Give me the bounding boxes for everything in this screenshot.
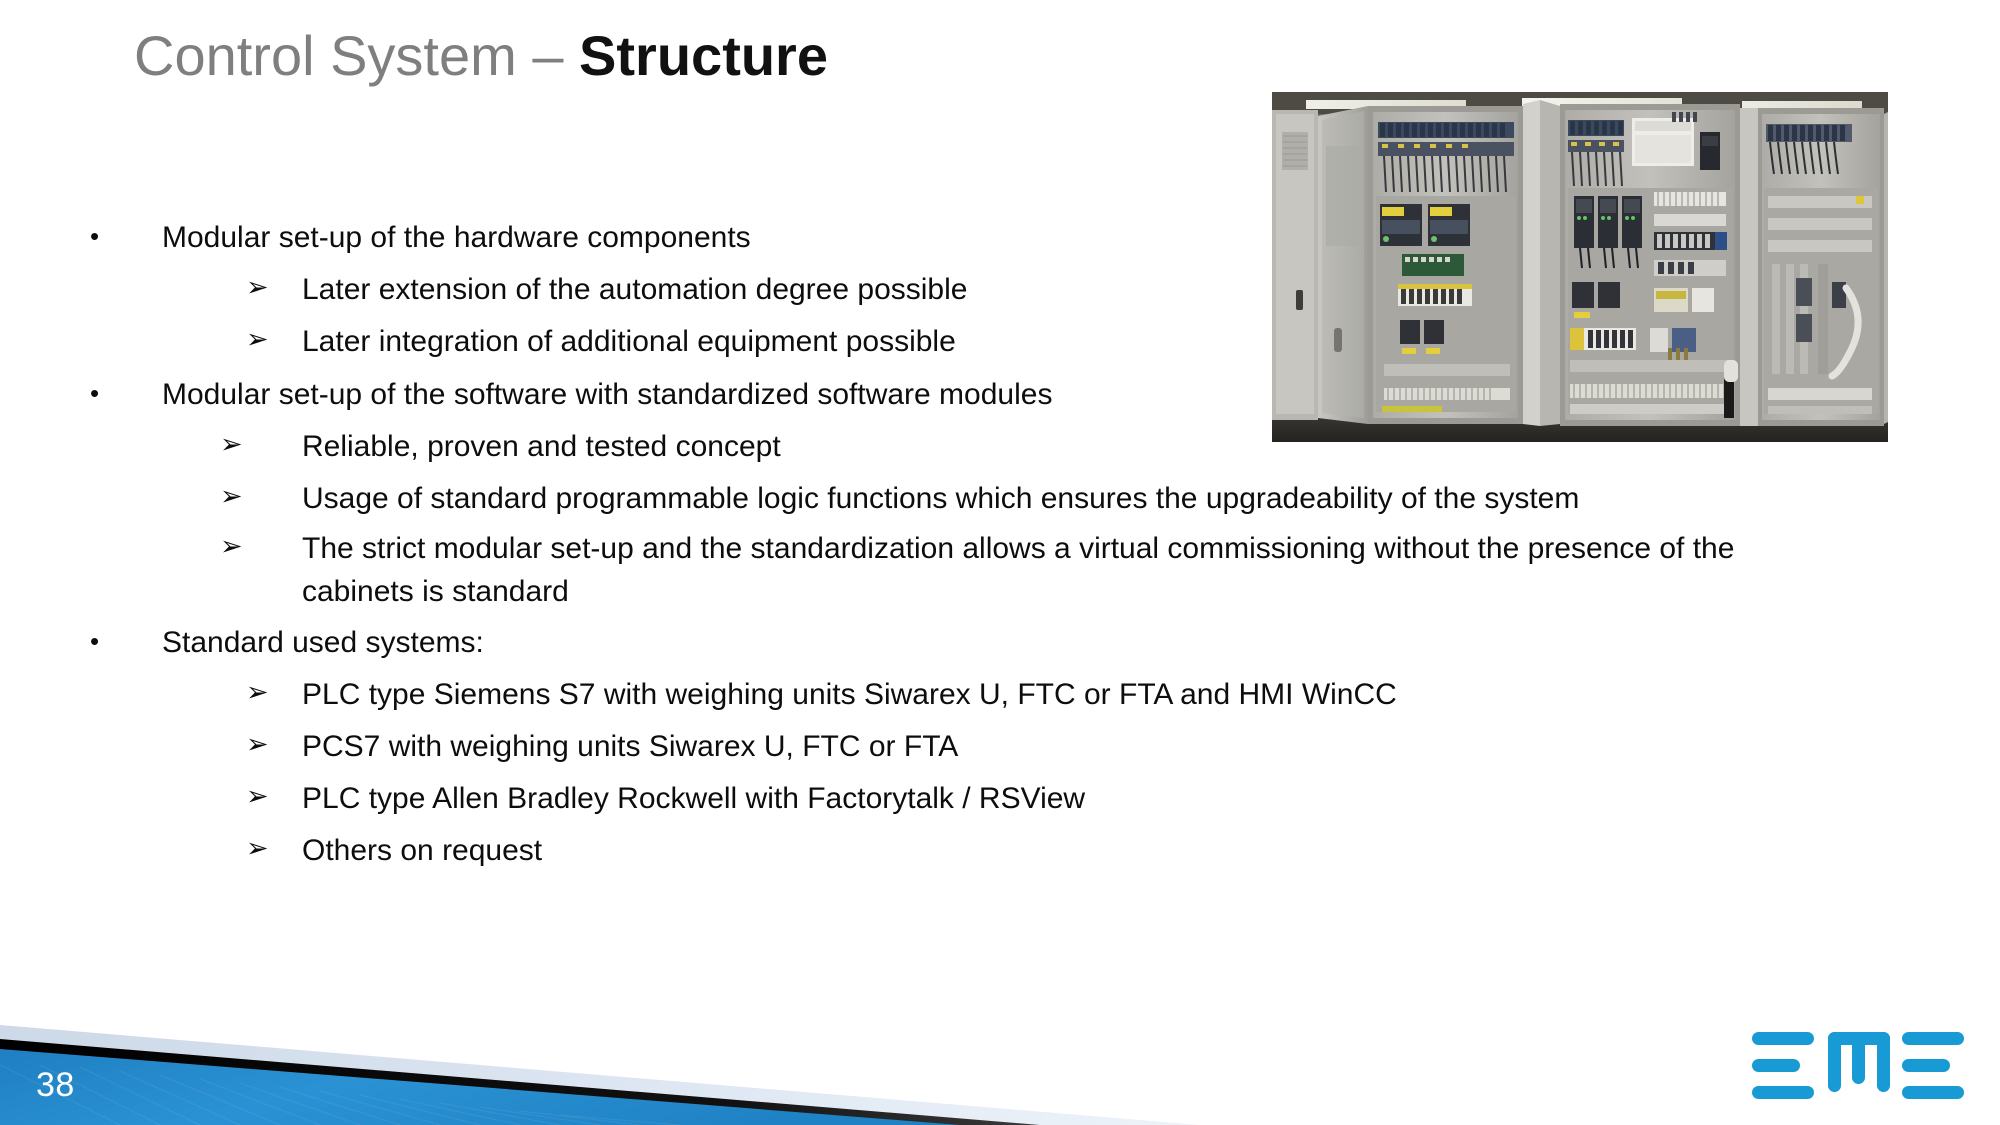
page-number: 38 (36, 1066, 75, 1105)
bullet-text: Usage of standard programmable logic fun… (302, 477, 1846, 520)
bullet-item-level2: ➢ Others on request (246, 829, 1846, 872)
bullet-dot-icon: • (86, 621, 162, 663)
bullet-arrow-icon: ➢ (246, 725, 302, 764)
slide-title: Control System – Structure (134, 26, 828, 86)
bullet-text: PCS7 with weighing units Siwarex U, FTC … (302, 725, 1846, 768)
title-primary-text: Control System – (134, 24, 579, 87)
bullet-text: The strict modular set-up and the standa… (302, 527, 1846, 613)
bullet-arrow-icon: ➢ (246, 268, 302, 307)
bullet-item-level2: ➢ PLC type Siemens S7 with weighing unit… (246, 673, 1846, 716)
bullet-arrow-icon: ➢ (246, 320, 302, 359)
bullet-text: Others on request (302, 829, 1846, 872)
eme-logo (1752, 1032, 1964, 1100)
bullet-item-level2: ➢ PCS7 with weighing units Siwarex U, FT… (246, 725, 1846, 768)
bullet-arrow-icon: ➢ (246, 829, 302, 868)
bullet-arrow-icon: ➢ (246, 673, 302, 712)
control-cabinets-photo (1272, 92, 1888, 442)
bullet-arrow-icon: ➢ (220, 527, 302, 566)
bullet-arrow-icon: ➢ (220, 477, 302, 516)
bullet-dot-icon: • (86, 373, 162, 415)
title-emphasis-text: Structure (579, 24, 828, 87)
bullet-item-level2: ➢ The strict modular set-up and the stan… (220, 527, 1846, 613)
bullet-text: PLC type Allen Bradley Rockwell with Fac… (302, 777, 1846, 820)
bullet-text: PLC type Siemens S7 with weighing units … (302, 673, 1846, 716)
bullet-item-level2: ➢ Usage of standard programmable logic f… (220, 477, 1846, 520)
bullet-dot-icon: • (86, 216, 162, 258)
presentation-slide: Control System – Structure • Modular set… (0, 0, 2000, 1125)
bullet-item-level1: • Standard used systems: (86, 621, 1846, 664)
bullet-arrow-icon: ➢ (220, 425, 302, 464)
footer-decoration (0, 995, 2000, 1125)
bullet-arrow-icon: ➢ (246, 777, 302, 816)
bullet-text: Standard used systems: (162, 621, 1846, 664)
bullet-item-level2: ➢ PLC type Allen Bradley Rockwell with F… (246, 777, 1846, 820)
